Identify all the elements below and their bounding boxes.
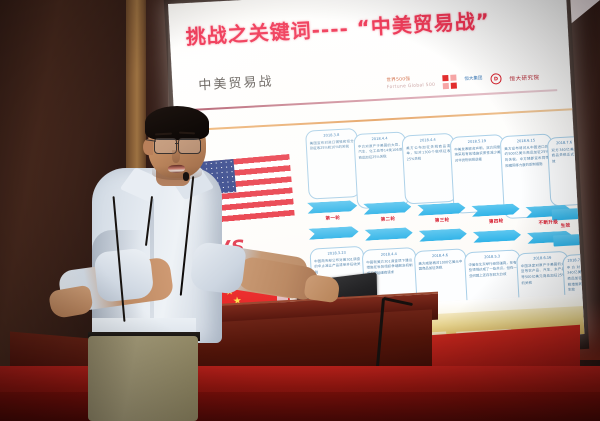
speaker-right-sleeve	[189, 241, 246, 295]
speaker-left-sleeve	[94, 247, 155, 303]
glasses-bridge	[175, 143, 179, 144]
microphone-head-icon	[183, 172, 189, 181]
conference-photo: 挑战之关键词---- “中美贸易战” 中美贸易战 世界500强 Fortune …	[0, 0, 600, 421]
trousers	[88, 336, 198, 421]
speaker	[0, 0, 600, 421]
speaker-nose	[172, 150, 180, 163]
speaker-right-hand	[303, 274, 340, 303]
glasses-icon	[178, 138, 201, 154]
jaw-shadow	[152, 166, 202, 180]
speaker-left-hand	[48, 285, 94, 320]
